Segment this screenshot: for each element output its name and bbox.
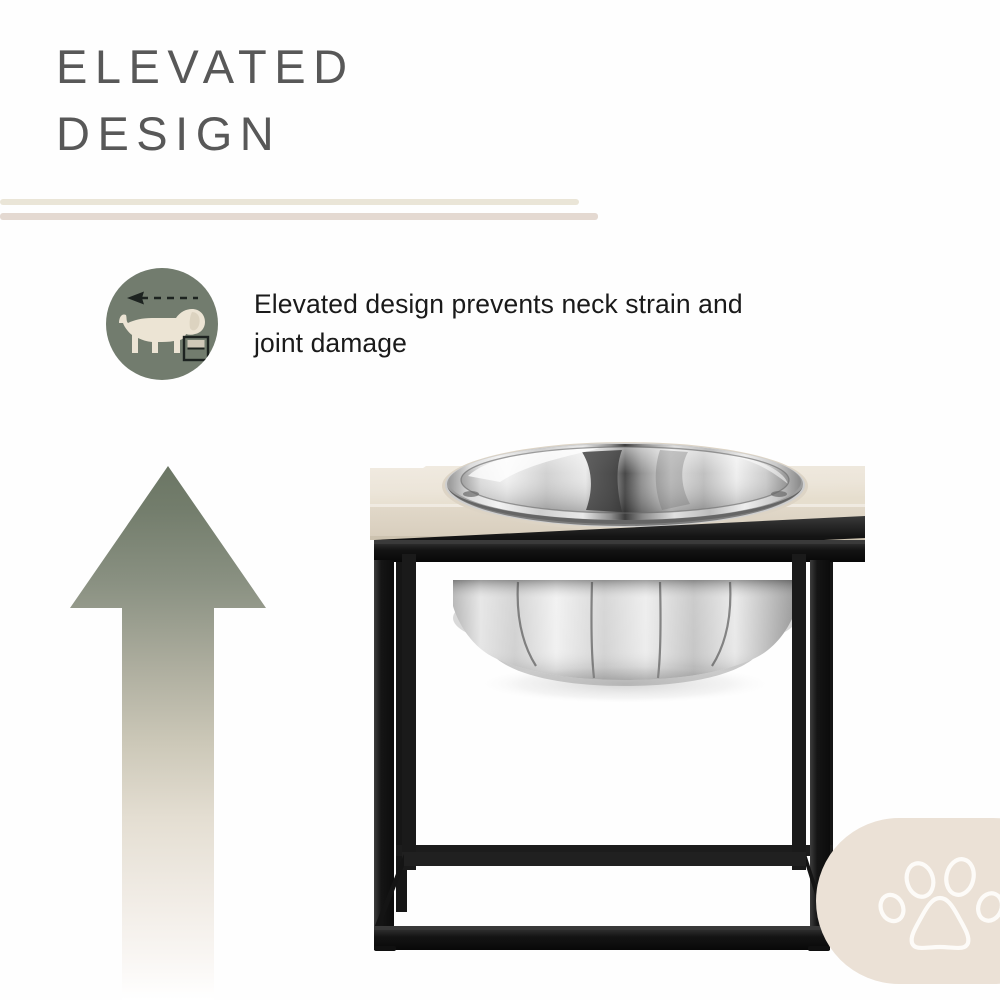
product-feature-graphic: Elevated Design	[0, 0, 1000, 1000]
feature-description: Elevated design prevents neck strain and…	[254, 285, 774, 362]
bowl-interior	[442, 442, 808, 530]
feature-row: Elevated design prevents neck strain and…	[106, 268, 826, 380]
paw-print-badge	[816, 818, 1000, 984]
elevated-pet-bowl-stand	[360, 430, 890, 970]
dog-elevated-bowl-icon	[106, 268, 218, 380]
divider-bottom	[0, 213, 598, 220]
arrow-up-icon	[62, 462, 274, 1000]
page-title: Elevated Design	[56, 34, 616, 167]
paw-print-icon	[868, 850, 1000, 960]
divider-top	[0, 199, 579, 205]
